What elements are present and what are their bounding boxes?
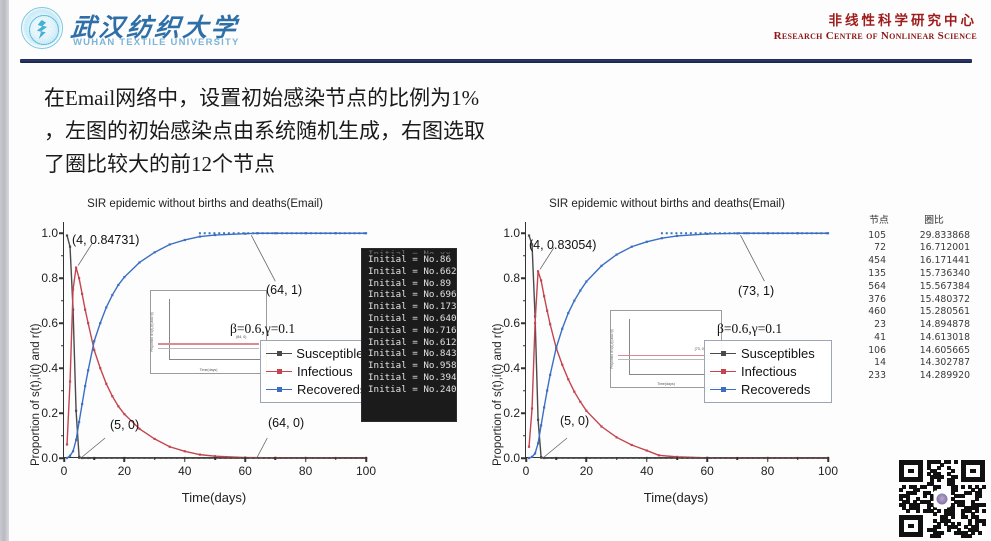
series-marker [733, 232, 735, 234]
series-marker [203, 457, 205, 459]
y-axis-minor-tick [61, 390, 64, 392]
series-marker [199, 454, 201, 456]
series-marker [706, 233, 708, 235]
series-marker [286, 232, 288, 234]
right-inset-ylabel: Proportion of s(t),i(t) and r(t) [610, 329, 614, 369]
series-marker [138, 457, 140, 459]
x-axis-tick-mark [525, 457, 527, 462]
series-marker [540, 424, 542, 426]
x-axis-tick-label: 0 [523, 464, 530, 478]
series-marker [528, 446, 530, 448]
series-marker [561, 328, 563, 330]
line-swatch-susceptibles-icon [266, 348, 291, 358]
series-marker [307, 457, 309, 459]
series-marker [585, 410, 587, 412]
series-marker [69, 380, 71, 382]
series-marker [573, 457, 575, 459]
series-marker [680, 232, 682, 234]
series-marker [281, 232, 283, 234]
series-marker [724, 232, 726, 234]
terminal-line: Initial = No.612 [368, 337, 450, 349]
series-marker [817, 457, 819, 459]
x-axis-tick-mark [63, 457, 65, 462]
series-marker [236, 457, 238, 459]
y-axis-minor-tick [61, 345, 64, 347]
x-axis-tick-label: 80 [761, 464, 774, 478]
series-marker [638, 457, 640, 459]
series-marker [631, 246, 633, 248]
series-marker [820, 232, 822, 234]
y-axis-minor-tick [523, 300, 526, 302]
right-chart-panel: SIR epidemic without births and deaths(E… [480, 198, 835, 528]
centre-name-cn: 非线性科学研究中心 [829, 9, 978, 29]
series-marker [546, 310, 548, 312]
series-marker [66, 457, 68, 459]
series-marker [534, 452, 536, 454]
terminal-line: Initial = No.86 [368, 254, 450, 266]
series-marker [827, 232, 829, 234]
series-marker [241, 457, 243, 459]
x-axis-minor-tick [737, 457, 739, 460]
slide-header: 武汉纺织大学 WUHAN TEXTILE UNIVERSITY 非线性科学研究中… [9, 0, 991, 56]
series-marker [204, 232, 206, 234]
series-marker [171, 457, 173, 459]
series-marker [796, 232, 798, 234]
table-row: 46015.280561 [860, 306, 970, 319]
body-line-3: 了圈比较大的前12个节点 [44, 148, 644, 181]
y-axis-minor-tick [61, 435, 64, 437]
cell-node: 105 [860, 229, 898, 242]
series-marker [600, 457, 602, 459]
series-marker [149, 457, 151, 459]
left-ann-recovered-end: (64, 1) [266, 283, 302, 297]
series-marker [682, 457, 684, 459]
series-marker [725, 457, 727, 459]
series-marker [247, 457, 249, 459]
right-chart-legend: Susceptibles Infectious Recovereds [704, 340, 832, 403]
series-marker [816, 232, 818, 234]
series-marker [285, 457, 287, 459]
series-marker [279, 457, 281, 459]
series-marker [81, 293, 83, 295]
legend-label-susceptibles: Susceptibles [296, 346, 370, 361]
series-marker [228, 232, 230, 234]
terminal-overlay: Initial = No.xxx Initial = No.86Initial … [361, 248, 457, 422]
series-marker [105, 457, 107, 459]
series-marker [268, 457, 270, 459]
y-axis-tick-mark [59, 322, 64, 324]
series-marker [600, 265, 602, 267]
series-marker [801, 457, 803, 459]
series-marker [84, 457, 86, 459]
series-marker [350, 457, 352, 459]
series-marker [579, 289, 581, 291]
terminal-line-list: Initial = No.86Initial = No.662Initial =… [368, 254, 450, 396]
series-marker [274, 232, 276, 234]
series-marker [199, 236, 201, 238]
series-marker [127, 457, 129, 459]
series-marker [154, 251, 156, 253]
table-row: 1414.302787 [860, 357, 970, 370]
x-axis-tick-mark [124, 457, 126, 462]
x-axis-tick-mark [827, 457, 829, 462]
series-marker [213, 232, 215, 234]
left-ann-infectious-zero: (64, 0) [268, 416, 304, 430]
y-axis-tick-label: 0.4 [503, 361, 520, 375]
y-axis-tick-mark [521, 232, 526, 234]
series-marker [758, 232, 760, 234]
cell-node: 460 [860, 306, 898, 319]
series-marker [72, 450, 74, 452]
right-ann-recovered-end: (73, 1) [738, 284, 774, 298]
y-axis-tick-label: 0.4 [41, 361, 58, 375]
series-marker [99, 367, 101, 369]
series-marker [66, 234, 68, 236]
series-marker [531, 407, 533, 409]
left-ann-susceptible-zero: (5, 0) [110, 418, 139, 432]
series-marker [315, 232, 317, 234]
series-marker [176, 457, 178, 459]
cell-node: 106 [860, 344, 898, 357]
series-marker [611, 457, 613, 459]
series-marker [643, 457, 645, 459]
series-marker [825, 232, 827, 234]
series-marker [736, 232, 738, 234]
series-marker [267, 232, 269, 234]
series-marker [223, 232, 225, 234]
series-marker [769, 457, 771, 459]
series-marker [806, 232, 808, 234]
series-marker [244, 233, 246, 235]
series-marker [81, 403, 83, 405]
column-header-node: 节点 [860, 212, 898, 229]
series-marker [534, 322, 536, 324]
terminal-line: Initial = No.696 [368, 289, 450, 301]
annotation-leader-line [251, 235, 275, 281]
series-marker [758, 457, 760, 459]
qr-code-icon [899, 460, 985, 537]
series-marker [687, 457, 689, 459]
y-axis-tick-mark [59, 277, 64, 279]
series-marker [365, 232, 367, 234]
series-marker [78, 421, 80, 423]
series-marker [72, 288, 74, 290]
series-marker [573, 391, 575, 393]
series-marker [187, 457, 189, 459]
series-marker [363, 232, 365, 234]
series-marker [730, 457, 732, 459]
series-marker [812, 457, 814, 459]
series-marker [75, 266, 77, 268]
left-chart-xlabel: Time(days) [63, 490, 365, 505]
series-marker [555, 347, 557, 349]
series-marker [199, 232, 201, 234]
cell-node: 564 [860, 280, 898, 293]
series-marker [738, 232, 740, 234]
series-marker [339, 457, 341, 459]
cell-ratio: 14.605665 [898, 344, 970, 357]
node-ratio-table: 节点 圈比 10529.8338687216.71200145416.17144… [860, 212, 970, 382]
series-marker [573, 300, 575, 302]
series-marker [296, 457, 298, 459]
series-marker [748, 232, 750, 234]
series-marker [105, 383, 107, 385]
series-marker [676, 235, 678, 237]
y-axis-tick-label: 0.0 [41, 451, 58, 465]
cell-node: 135 [860, 267, 898, 280]
series-marker [263, 457, 265, 459]
x-axis-tick-mark [365, 457, 367, 462]
series-marker [252, 457, 254, 459]
x-axis-tick-label: 20 [118, 464, 131, 478]
cell-ratio: 15.567384 [898, 280, 970, 293]
legend-label-recovereds: Recovereds [741, 382, 810, 397]
series-marker [537, 270, 539, 272]
series-marker [671, 232, 673, 234]
series-marker [579, 401, 581, 403]
series-marker [238, 232, 240, 234]
cell-node: 233 [860, 370, 898, 383]
header-divider [20, 59, 972, 63]
x-axis-tick-label: 100 [356, 464, 376, 478]
right-chart-title: SIR epidemic without births and deaths(E… [502, 198, 832, 210]
series-marker [111, 395, 113, 397]
series-marker [666, 232, 668, 234]
x-axis-tick-label: 20 [580, 464, 593, 478]
y-axis-tick-mark [521, 322, 526, 324]
series-marker [262, 232, 264, 234]
series-marker [349, 232, 351, 234]
series-marker [105, 306, 107, 308]
series-marker [743, 232, 745, 234]
y-axis-tick-label: 1.0 [41, 226, 58, 240]
right-chart-xlabel: Time(days) [525, 490, 827, 505]
series-marker [719, 232, 721, 234]
terminal-line: Initial = No.89 [368, 278, 450, 290]
y-axis-tick-label: 1.0 [503, 226, 520, 240]
x-axis-minor-tick [93, 457, 95, 460]
annotation-leader-line [82, 438, 105, 457]
left-edge-strip [0, 0, 9, 541]
line-swatch-infectious-icon [266, 366, 292, 376]
series-marker [561, 364, 563, 366]
series-marker [291, 232, 293, 234]
annotation-leader-line [740, 235, 764, 281]
y-axis-tick-label: 0.8 [503, 271, 520, 285]
series-marker [181, 457, 183, 459]
series-marker [720, 457, 722, 459]
series-marker [661, 237, 663, 239]
x-axis-minor-tick [676, 457, 678, 460]
series-marker [290, 457, 292, 459]
table-row: 23314.289920 [860, 370, 970, 383]
series-marker [84, 309, 86, 311]
cell-ratio: 15.736340 [898, 267, 970, 280]
series-marker [111, 294, 113, 296]
x-axis-tick-mark [706, 457, 708, 462]
y-axis-tick-mark [521, 367, 526, 369]
series-marker [785, 457, 787, 459]
series-marker [192, 457, 194, 459]
legend-label-infectious: Infectious [297, 364, 353, 379]
series-marker [69, 455, 71, 457]
series-marker [747, 457, 749, 459]
university-seal-icon [21, 7, 63, 49]
series-marker [767, 232, 769, 234]
series-marker [540, 457, 542, 459]
series-marker [123, 276, 125, 278]
y-axis-minor-tick [523, 345, 526, 347]
series-marker [714, 457, 716, 459]
series-marker [790, 457, 792, 459]
x-axis-tick-mark [646, 457, 648, 462]
legend-item-susceptibles: Susceptibles [710, 344, 824, 362]
table-row: 10614.605665 [860, 344, 970, 357]
series-marker [690, 232, 692, 234]
cell-node: 14 [860, 357, 898, 370]
left-chart-panel: SIR epidemic without births and deaths(E… [18, 198, 373, 528]
cell-node: 454 [860, 255, 898, 268]
series-marker [779, 457, 781, 459]
series-marker [93, 340, 95, 342]
series-marker [546, 457, 548, 459]
left-chart-ylabel: Proportion of s(t),i(t) and r(t) [30, 323, 42, 466]
series-marker [704, 232, 706, 234]
series-marker [660, 457, 662, 459]
series-marker [787, 232, 789, 234]
left-ann-peak: (4, 0.84731) [72, 233, 139, 247]
series-marker [661, 232, 663, 234]
series-marker [165, 457, 167, 459]
x-axis-tick-label: 40 [178, 464, 191, 478]
series-marker [551, 457, 553, 459]
series-marker [320, 232, 322, 234]
cell-node: 72 [860, 242, 898, 255]
terminal-line: Initial = No.716 [368, 325, 450, 337]
series-marker [75, 410, 77, 412]
series-marker [209, 232, 211, 234]
right-chart-params: β=0.6,γ=0.1 [717, 321, 782, 337]
table-row: 2314.894878 [860, 318, 970, 331]
y-axis-tick-mark [59, 367, 64, 369]
series-marker [646, 241, 648, 243]
x-axis-tick-label: 60 [239, 464, 252, 478]
series-marker [87, 369, 89, 371]
series-marker [257, 232, 259, 234]
series-marker [540, 279, 542, 281]
cell-node: 23 [860, 318, 898, 331]
series-marker [230, 457, 232, 459]
terminal-line: Initial = No.958 [368, 360, 450, 372]
x-axis-minor-tick [154, 457, 156, 460]
series-marker [99, 322, 101, 324]
series-marker [214, 234, 216, 236]
right-chart-ylabel: Proportion of s(t),i(t) and r(t) [492, 323, 504, 466]
y-axis-tick-mark [59, 232, 64, 234]
series-marker [823, 457, 825, 459]
series-marker [791, 232, 793, 234]
series-marker [698, 457, 700, 459]
y-axis-minor-tick [523, 255, 526, 257]
series-marker [762, 232, 764, 234]
series-marker [543, 406, 545, 408]
table-row: 37615.480372 [860, 293, 970, 306]
x-axis-tick-label: 40 [640, 464, 653, 478]
x-axis-tick-mark [305, 457, 307, 462]
table-row: 4114.613018 [860, 331, 970, 344]
cell-ratio: 29.833868 [898, 229, 970, 242]
series-marker [247, 232, 249, 234]
x-axis-tick-mark [767, 457, 769, 462]
series-marker [753, 232, 755, 234]
terminal-line: Initial = No.173 [368, 301, 450, 313]
line-swatch-recovereds-icon [710, 384, 736, 394]
y-axis-minor-tick [61, 300, 64, 302]
series-marker [811, 232, 813, 234]
series-marker [169, 243, 171, 245]
series-marker [252, 232, 254, 234]
series-marker [117, 284, 119, 286]
series-marker [622, 457, 624, 459]
series-marker [567, 457, 569, 459]
table-row: 45416.171441 [860, 255, 970, 268]
cell-node: 41 [860, 331, 898, 344]
series-marker [334, 232, 336, 234]
cell-ratio: 16.712001 [898, 242, 970, 255]
series-marker [258, 457, 260, 459]
series-marker [801, 232, 803, 234]
y-axis-minor-tick [523, 435, 526, 437]
series-marker [361, 457, 363, 459]
series-marker [220, 457, 222, 459]
centre-name-en: Research Centre of Nonlinear Science [774, 30, 977, 42]
series-marker [685, 232, 687, 234]
series-marker [123, 413, 125, 415]
y-axis-tick-label: 0.2 [503, 406, 520, 420]
series-marker [605, 457, 607, 459]
series-marker [300, 232, 302, 234]
terminal-line: Initial = No.240 [368, 384, 450, 396]
series-marker [649, 457, 651, 459]
x-axis-minor-tick [616, 457, 618, 460]
y-axis-tick-label: 0.6 [503, 316, 520, 330]
series-marker [658, 454, 660, 456]
series-marker [354, 232, 356, 234]
table-row: 13515.736340 [860, 267, 970, 280]
series-marker [339, 232, 341, 234]
series-marker [242, 232, 244, 234]
series-marker [616, 436, 618, 438]
series-marker [631, 444, 633, 446]
series-marker [763, 457, 765, 459]
x-axis-tick-label: 0 [61, 464, 68, 478]
series-marker [169, 446, 171, 448]
series-marker [111, 457, 113, 459]
series-marker [709, 232, 711, 234]
series-marker [198, 457, 200, 459]
cell-ratio: 14.613018 [898, 331, 970, 344]
series-marker [154, 438, 156, 440]
series-marker [531, 456, 533, 458]
series-marker [646, 449, 648, 451]
series-marker [777, 232, 779, 234]
series-marker [69, 246, 71, 248]
series-marker [117, 405, 119, 407]
right-ann-peak: (4, 0.83054) [529, 238, 596, 252]
series-marker [567, 312, 569, 314]
legend-item-susceptibles: Susceptibles [266, 344, 370, 362]
legend-label-recovereds: Recovereds [297, 382, 366, 397]
